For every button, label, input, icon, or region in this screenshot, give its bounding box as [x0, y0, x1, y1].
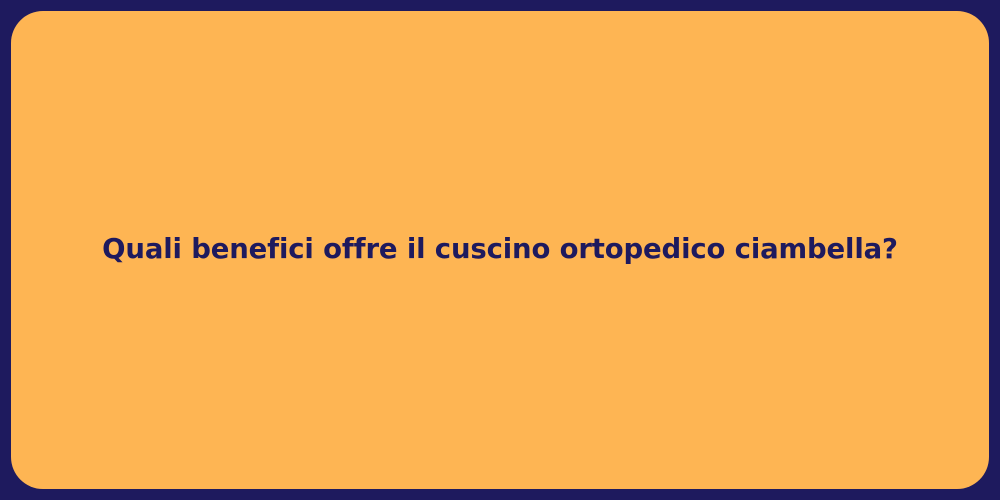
headline-text: Quali benefici offre il cuscino ortopedi… — [102, 231, 898, 268]
outer-frame: Quali benefici offre il cuscino ortopedi… — [0, 0, 1000, 500]
content-card: Quali benefici offre il cuscino ortopedi… — [11, 11, 989, 489]
